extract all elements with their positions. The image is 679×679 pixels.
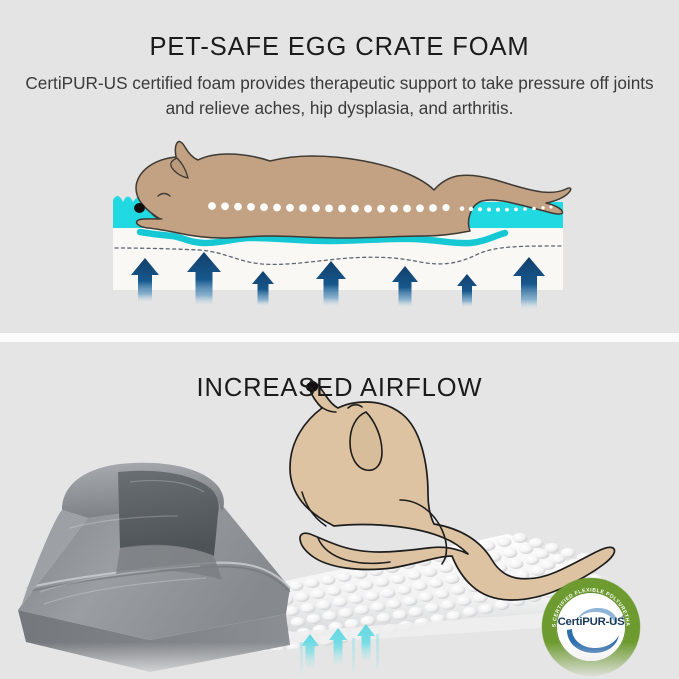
dog-on-foam-cross-section-illustration [0, 0, 679, 333]
section-title-airflow: INCREASED AIRFLOW [0, 374, 679, 403]
dog-nose [134, 203, 145, 213]
section-pet-safe-egg-crate-foam: PET-SAFE EGG CRATE FOAM CertiPUR-US cert… [0, 0, 679, 333]
bottom-fade [0, 642, 679, 679]
section-increased-airflow: CONTAINS CERTIFIED FLEXIBLE POLYURETHANE… [0, 342, 679, 679]
section-divider [0, 333, 679, 342]
bolster-bed [18, 463, 290, 672]
infographic-page: PET-SAFE EGG CRATE FOAM CertiPUR-US cert… [0, 0, 679, 679]
badge-brand-text: CertiPUR-US [558, 616, 626, 628]
